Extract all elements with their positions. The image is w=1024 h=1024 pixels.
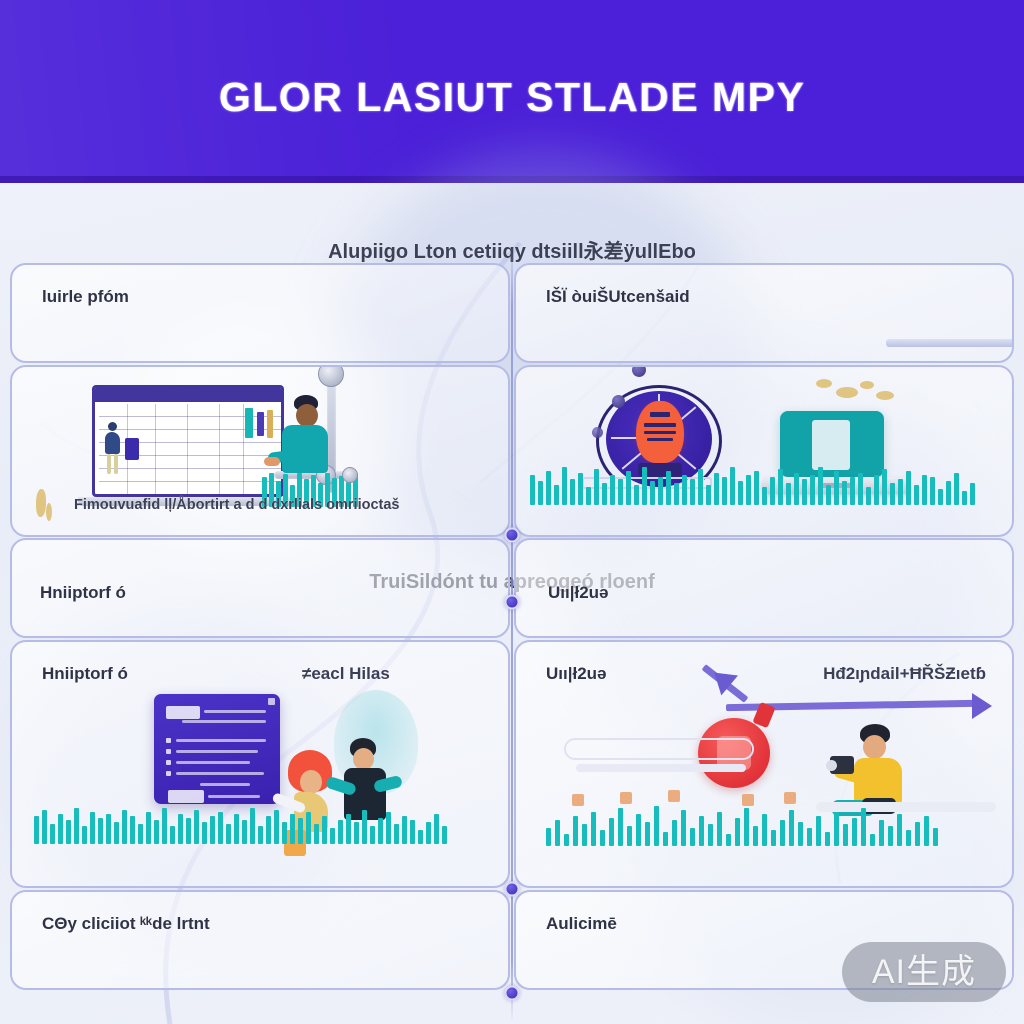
bar-marker bbox=[668, 790, 680, 802]
gold-fleck bbox=[876, 391, 894, 400]
card-illustration-workstation[interactable]: Fimouvuafid lļ/Åbortirt a d d dxrlials … bbox=[10, 365, 510, 537]
ai-generated-infographic-poster: GLOR LASIUT STLADE MPY Alupiigo Lton cet… bbox=[0, 0, 1024, 1024]
card-footer-left[interactable]: CΘy cliciiot ᵏᵏde lrtnt bbox=[10, 890, 510, 990]
bead bbox=[592, 427, 603, 438]
teal-bar-chart-strip bbox=[530, 463, 975, 505]
poster-title: GLOR LASIUT STLADE MPY bbox=[0, 74, 1024, 121]
rig-joint bbox=[342, 467, 358, 483]
card-data-source[interactable]: lŠÏ òuiŠUtcenšaid bbox=[514, 263, 1014, 363]
dialog-action-chip[interactable] bbox=[168, 790, 204, 803]
arrow-head-right bbox=[972, 693, 992, 719]
card-label: CΘy cliciiot ᵏᵏde lrtnt bbox=[42, 914, 210, 934]
connector-dot bbox=[505, 595, 520, 610]
ai-generated-watermark: AI生成 bbox=[842, 942, 1006, 1002]
card-platform-overview[interactable]: luirle pfóm bbox=[10, 263, 510, 363]
gold-fleck bbox=[860, 381, 874, 389]
purple-dialog-panel[interactable] bbox=[154, 694, 280, 804]
outline-rail bbox=[576, 764, 746, 772]
rig-joint bbox=[318, 365, 344, 387]
banner-bottom-edge bbox=[0, 176, 1024, 183]
bead bbox=[632, 365, 646, 377]
dialog-title-chip bbox=[166, 706, 200, 719]
gold-fleck bbox=[816, 379, 832, 388]
bar-marker bbox=[742, 794, 754, 806]
card-illustration-delivery[interactable]: Uıı|ł2uə Hđ2ıɲdail+ĦŘŠƵıetɓ bbox=[514, 640, 1014, 888]
gauge-core bbox=[636, 401, 684, 463]
teal-bar-chart-strip bbox=[546, 802, 938, 846]
spreadsheet-avatar-icon bbox=[103, 422, 123, 482]
card-label-secondary: ≠eacl Hilas bbox=[302, 664, 390, 684]
card-label: Hniiptorf ó bbox=[42, 664, 128, 684]
laptop-screen bbox=[92, 385, 284, 497]
card-label: lŠÏ òuiŠUtcenšaid bbox=[546, 287, 690, 307]
card-label: Uıı|ł2uə bbox=[546, 664, 607, 684]
connector-dot bbox=[505, 528, 520, 543]
card-label: luirle pfóm bbox=[42, 287, 129, 307]
poster-body: Alupiigo Lton cetiiqy dtsiill永差ÿullEbo l… bbox=[0, 183, 1024, 1024]
gold-fleck bbox=[46, 503, 52, 521]
camera-lens-icon bbox=[826, 760, 837, 771]
connector-dot bbox=[505, 882, 520, 897]
gold-fleck bbox=[36, 489, 46, 517]
bar-marker bbox=[572, 794, 584, 806]
gold-fleck bbox=[836, 387, 858, 398]
card-label: Aulicimē bbox=[546, 914, 617, 934]
card-label-row3-right: Uıı|ł2uə bbox=[548, 583, 609, 603]
teal-bar-chart-strip bbox=[34, 804, 447, 844]
card-illustration-analytics[interactable] bbox=[514, 365, 1014, 537]
connector-dot bbox=[505, 986, 520, 1001]
card-label-row3-left: Hniiptorf ó bbox=[40, 583, 126, 603]
outline-rail bbox=[564, 738, 754, 760]
card-illustration-dialog-review[interactable]: Hniiptorf ó ≠eacl Hilas bbox=[10, 640, 510, 888]
bead bbox=[612, 395, 625, 408]
bar-marker bbox=[784, 792, 796, 804]
laptop-titlebar bbox=[95, 388, 281, 402]
card-caption: Fimouvuafid lļ/Åbortirt a d d dxrlials … bbox=[74, 497, 400, 513]
card-rail-divider bbox=[886, 339, 1014, 347]
card-label-secondary: Hđ2ıɲdail+ĦŘŠƵıetɓ bbox=[823, 664, 986, 684]
connector-spine bbox=[511, 243, 513, 1023]
dialog-close-icon[interactable] bbox=[268, 698, 275, 705]
bar-marker bbox=[620, 792, 632, 804]
